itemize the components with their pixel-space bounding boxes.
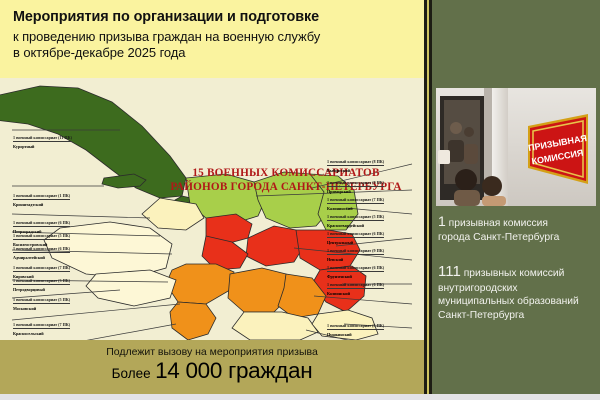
label-office: 1 военный комиссариат (6 ПК) [327,283,384,289]
label-district: Колпинский [327,292,384,297]
left-content-column: Мероприятия по организации и подготовке … [0,0,424,394]
map-label-kolpinsky: 1 военный комиссариат (6 ПК) Колпинский [327,273,384,296]
label-office: 1 военный комиссариат (1 ПК) [13,194,70,200]
slide: Мероприятия по организации и подготовке … [0,0,600,400]
map-label-kurortny: 1 военный комиссариат (11 ПК) Курортный [13,126,72,149]
stat2-line3: муниципальных образований [438,296,579,307]
map-label-vyborgsky: 1 военный комиссариат (8 ПК) Выборгский [327,150,384,173]
label-office: 1 военный комиссариат (5 ПК) [13,298,70,304]
slide-footer: Подлежит вызову на мероприятия призыва Б… [0,340,424,394]
label-office: 1 военный комиссариат (5 ПК) [327,215,384,221]
stat-draft-commission-city: 1 призывная комиссия города Санкт-Петерб… [438,212,600,244]
label-office: 1 военный комиссариат (8 ПК) [327,181,384,187]
right-sidebar-panel: ПРИЗЫВНАЯ КОМИССИЯ 1 призывная комиссия … [432,0,600,394]
header-line-2: к проведению призыва граждан на военную … [13,29,414,45]
draft-commission-photo: ПРИЗЫВНАЯ КОМИССИЯ [436,88,596,206]
stat2-line2: внутригородских [438,283,518,294]
footer-amount-value: 14 000 граждан [155,358,312,383]
photo-illustration: ПРИЗЫВНАЯ КОМИССИЯ [436,88,596,206]
map-label-krasnoselsky: 1 военный комиссариат (7 ПК) Красносельс… [13,313,70,336]
label-office: 1 военный комиссариат (6 ПК) [327,232,384,238]
stat2-line4: Санкт-Петербурга [438,310,524,321]
stat-draft-commissions-municipal: 111 призывных комиссий внутригородских м… [438,262,600,323]
vertical-divider [424,0,432,394]
label-district: Пушкинский [327,333,384,338]
slide-header: Мероприятия по организации и подготовке … [0,0,424,78]
footer-amount: Более 14 000 граждан [0,360,424,383]
label-office: 1 военный комиссариат (7 ПК) [13,323,70,329]
label-office: 1 военный комиссариат (11 ПК) [13,136,72,142]
header-line-3: в октябре-декабре 2025 года [13,45,414,61]
label-district: Кронштадтский [13,203,70,208]
map-label-kronshtadtsky: 1 военный комиссариат (1 ПК) Кронштадтск… [13,184,70,207]
footer-amount-prefix: Более [112,366,151,381]
header-line-1: Мероприятия по организации и подготовке [13,9,414,27]
map-label-pushkinsky: 1 военный комиссариат (5 ПК) Пушкинский [327,314,384,337]
label-district: Московский [13,307,70,312]
label-office: 1 военный комиссариат (6 ПК) [327,266,384,272]
label-office: 1 военный комиссариат (8 ПК) [327,160,384,166]
label-office: 1 военный комиссариат (9 ПК) [327,249,384,255]
label-office: 1 военный комиссариат (5 ПК) [327,324,384,330]
stat1-text: призывная комиссия [449,218,548,229]
label-office: 1 военный комиссариат (7 ПК) [327,198,384,204]
label-district: Красносельский [13,332,70,337]
label-district: Курортный [13,145,72,150]
stat1-number: 1 [438,213,446,229]
stat2-text: призывных комиссий [464,268,565,279]
map-label-moskovsky: 1 военный комиссариат (5 ПК) Московский [13,288,70,311]
stat2-number: 111 [438,263,461,280]
label-office: 1 военный комиссариат (3 ПК) [13,279,70,285]
label-office: 1 военный комиссариат (6 ПК) [13,247,70,253]
stat1-line2: города Санкт-Петербурга [438,232,559,243]
